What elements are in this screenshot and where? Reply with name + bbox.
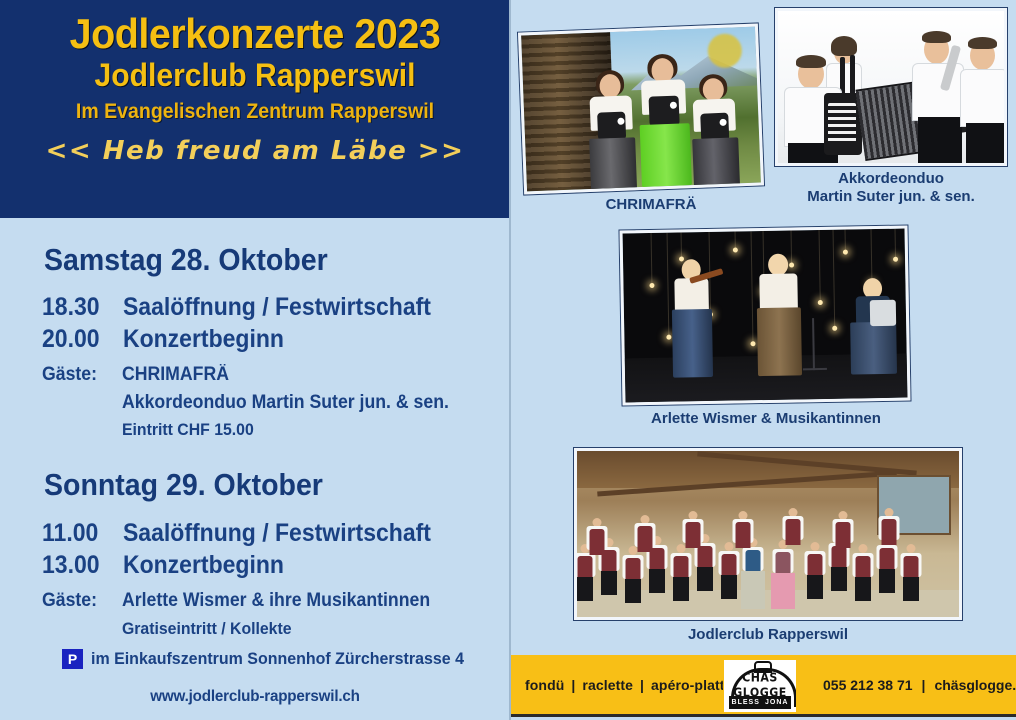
admission-price-sunday: Gratiseintritt / Kollekte bbox=[42, 617, 292, 641]
guest-row-sunday: Gäste:Arlette Wismer & ihre Musikantinne… bbox=[42, 588, 430, 614]
logo-base-right: JONA bbox=[765, 699, 788, 706]
time-label: Konzertbeginn bbox=[123, 551, 284, 579]
time-row-saturday-2: 20.00Konzertbeginn bbox=[42, 324, 284, 355]
photo-arlette-wismer bbox=[619, 226, 910, 406]
guest-name-primary: CHRIMAFRÄ bbox=[122, 364, 229, 385]
poster-title-club: Jodlerclub Rapperswil bbox=[15, 58, 494, 94]
sponsor-contact: 055 212 38 71|chäsglogge.ch bbox=[823, 677, 1016, 693]
offering-fondue: fondü bbox=[525, 677, 564, 693]
separator: | bbox=[564, 677, 582, 693]
time-value: 20.00 bbox=[42, 324, 123, 355]
photo-artwork bbox=[623, 229, 908, 403]
chaesglogge-logo: CHÄS GLOGGE BLESS JONA bbox=[723, 659, 797, 713]
photo-jodlerclub bbox=[574, 448, 962, 620]
poster-left-column: Jodlerkonzerte 2023 Jodlerclub Rapperswi… bbox=[0, 0, 510, 720]
photo-caption-chrimafrae: CHRIMAFRÄ bbox=[551, 196, 751, 214]
sponsor-website[interactable]: chäsglogge.ch bbox=[934, 677, 1016, 693]
day-heading-saturday: Samstag 28. Oktober bbox=[44, 242, 328, 278]
sponsor-footer-bar: fondü|raclette|apéro-platte CHÄS GLOGGE … bbox=[511, 655, 1016, 717]
poster-header-banner: Jodlerkonzerte 2023 Jodlerclub Rapperswi… bbox=[0, 0, 510, 218]
time-label: Konzertbeginn bbox=[123, 325, 284, 353]
parking-icon: P bbox=[62, 649, 83, 669]
guests-label: Gäste: bbox=[42, 362, 122, 388]
guest-row-saturday: Gäste:CHRIMAFRÄ bbox=[42, 362, 229, 388]
guests-label: Gäste: bbox=[42, 588, 122, 614]
day-heading-sunday: Sonntag 29. Oktober bbox=[44, 467, 323, 503]
time-row-sunday-1: 11.00Saalöffnung / Festwirtschaft bbox=[42, 518, 431, 549]
photo-caption-arlette-wismer: Arlette Wismer & Musikantinnen bbox=[621, 410, 911, 428]
time-label: Saalöffnung / Festwirtschaft bbox=[123, 293, 431, 321]
parking-info: P im Einkaufszentrum Sonnenhof Zürcherst… bbox=[62, 649, 488, 669]
sponsor-phone[interactable]: 055 212 38 71 bbox=[823, 677, 913, 693]
time-row-saturday-1: 18.30Saalöffnung / Festwirtschaft bbox=[42, 292, 431, 323]
logo-base-left: BLESS bbox=[732, 699, 760, 706]
poster-title-venue: Im Evangelischen Zentrum Rapperswil bbox=[18, 99, 492, 124]
time-label: Saalöffnung / Festwirtschaft bbox=[123, 519, 431, 547]
photo-artwork bbox=[521, 27, 761, 192]
logo-base-strip: BLESS JONA bbox=[729, 696, 791, 709]
separator: | bbox=[913, 677, 935, 693]
offering-apero-platte: apéro-platte bbox=[651, 677, 732, 693]
admission-price-saturday: Eintritt CHF 15.00 bbox=[42, 418, 254, 442]
offering-raclette: raclette bbox=[582, 677, 633, 693]
sponsor-offerings: fondü|raclette|apéro-platte bbox=[525, 677, 732, 693]
event-poster: Jodlerkonzerte 2023 Jodlerclub Rapperswi… bbox=[0, 0, 1016, 720]
time-row-sunday-2: 13.00Konzertbeginn bbox=[42, 550, 284, 581]
time-value: 13.00 bbox=[42, 550, 123, 581]
time-value: 18.30 bbox=[42, 292, 123, 323]
photo-caption-jodlerclub: Jodlerclub Rapperswil bbox=[574, 626, 962, 644]
photo-caption-akkordeonduo: Akkordeonduo Martin Suter jun. & sen. bbox=[783, 170, 999, 205]
photo-chrimafrae bbox=[518, 23, 764, 194]
guest-name-secondary: Akkordeonduo Martin Suter jun. & sen. bbox=[42, 390, 449, 416]
poster-title-main: Jodlerkonzerte 2023 bbox=[15, 12, 494, 56]
poster-slogan: << Heb freud am Läbe >> bbox=[0, 136, 510, 166]
photo-artwork bbox=[778, 11, 1004, 163]
photo-artwork bbox=[577, 451, 959, 617]
guest-name-primary: Arlette Wismer & ihre Musikantinnen bbox=[122, 590, 430, 611]
website-link[interactable]: www.jodlerclub-rapperswil.ch bbox=[13, 688, 498, 706]
poster-program: Samstag 28. Oktober 18.30Saalöffnung / F… bbox=[0, 218, 510, 720]
separator: | bbox=[633, 677, 651, 693]
photo-akkordeonduo bbox=[775, 8, 1007, 166]
parking-text: im Einkaufszentrum Sonnenhof Zürcherstra… bbox=[91, 649, 464, 669]
poster-right-column: CHRIMAFRÄ bbox=[511, 0, 1016, 720]
time-value: 11.00 bbox=[42, 518, 123, 549]
